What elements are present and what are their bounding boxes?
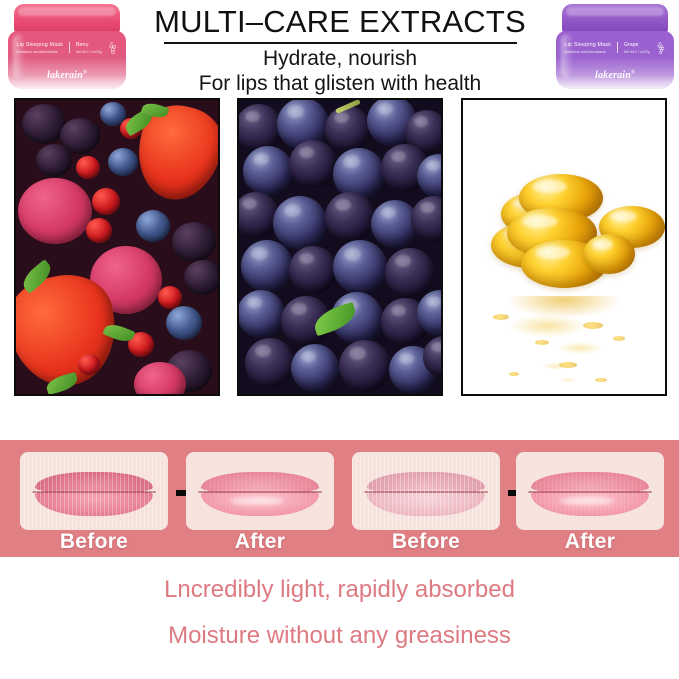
footer-line-1: Lncredibly light, rapidly absorbed (0, 578, 679, 602)
jar-brand-text: lakerain (47, 70, 83, 81)
before-label-1: Before (20, 530, 168, 554)
title-underline (164, 42, 517, 44)
jar-label-divider (617, 42, 618, 53)
jar-label: Lip Sleeping Mask Moisturize and Antioxi… (562, 42, 668, 72)
jar-brand: lakerain® (8, 70, 126, 81)
jar-lid (562, 4, 668, 34)
lips-dry-image (20, 452, 168, 530)
reflection (463, 296, 665, 396)
jar-trademark: ® (631, 71, 635, 76)
jar-flavor-name: Berry (76, 42, 102, 48)
jar-net-weight: Net Wt 0.7 oz/20g (76, 50, 102, 54)
jar-product-claim: Moisturize and Antioxidants (564, 50, 611, 54)
vitamin-e-softgels-photo (463, 100, 665, 394)
purple-grapes-photo (239, 100, 441, 394)
jar-brand-text: lakerain (595, 70, 631, 81)
jar-product-claim: Moisturize and Antioxidants (16, 50, 63, 54)
ingredient-panels: Berry Extract Grape Extract Vitamin E (0, 98, 679, 398)
after-label-2: After (516, 530, 664, 554)
after-photo-1 (186, 452, 334, 530)
grape-icon (656, 42, 666, 60)
ingredient-image-berry (14, 98, 220, 396)
jar-brand: lakerain® (556, 70, 674, 81)
before-photo-1 (20, 452, 168, 530)
jar-trademark: ® (83, 71, 87, 76)
before-label-2: Before (352, 530, 500, 554)
product-jar-berry: Lip Sleeping Mask Moisturize and Antioxi… (8, 4, 126, 92)
subtitle-line-2: For lips that glisten with health (140, 71, 540, 97)
footer-claims: Lncredibly light, rapidly absorbed Moist… (0, 578, 679, 648)
ingredient-image-grape (237, 98, 443, 396)
headline-block: MULTI–CARE EXTRACTS Hydrate, nourish For… (140, 6, 540, 97)
footer-line-2: Moisture without any greasiness (0, 624, 679, 648)
before-after-band: Before After Before (0, 440, 679, 557)
after-label-1: After (186, 530, 334, 554)
jar-flavor-name: Grape (624, 42, 650, 48)
jar-product-name: Lip Sleeping Mask (16, 42, 63, 48)
subtitle-line-1: Hydrate, nourish (140, 46, 540, 72)
ingredient-image-vitamin-e (461, 98, 667, 396)
jar-lid (14, 4, 120, 34)
jar-label-divider (69, 42, 70, 53)
lips-hydrated-image (186, 452, 334, 530)
jar-product-name: Lip Sleeping Mask (564, 42, 611, 48)
lips-hydrated-image (516, 452, 664, 530)
jar-net-weight: Net Wt 0.7 oz/20g (624, 50, 650, 54)
after-photo-2 (516, 452, 664, 530)
product-jar-grape: Lip Sleeping Mask Moisturize and Antioxi… (556, 4, 674, 92)
lips-dry-image (352, 452, 500, 530)
page-title: MULTI–CARE EXTRACTS (140, 6, 540, 39)
before-photo-2 (352, 452, 500, 530)
berry-icon (108, 42, 118, 60)
jar-label: Lip Sleeping Mask Moisturize and Antioxi… (14, 42, 120, 72)
mixed-berries-photo (16, 100, 218, 394)
